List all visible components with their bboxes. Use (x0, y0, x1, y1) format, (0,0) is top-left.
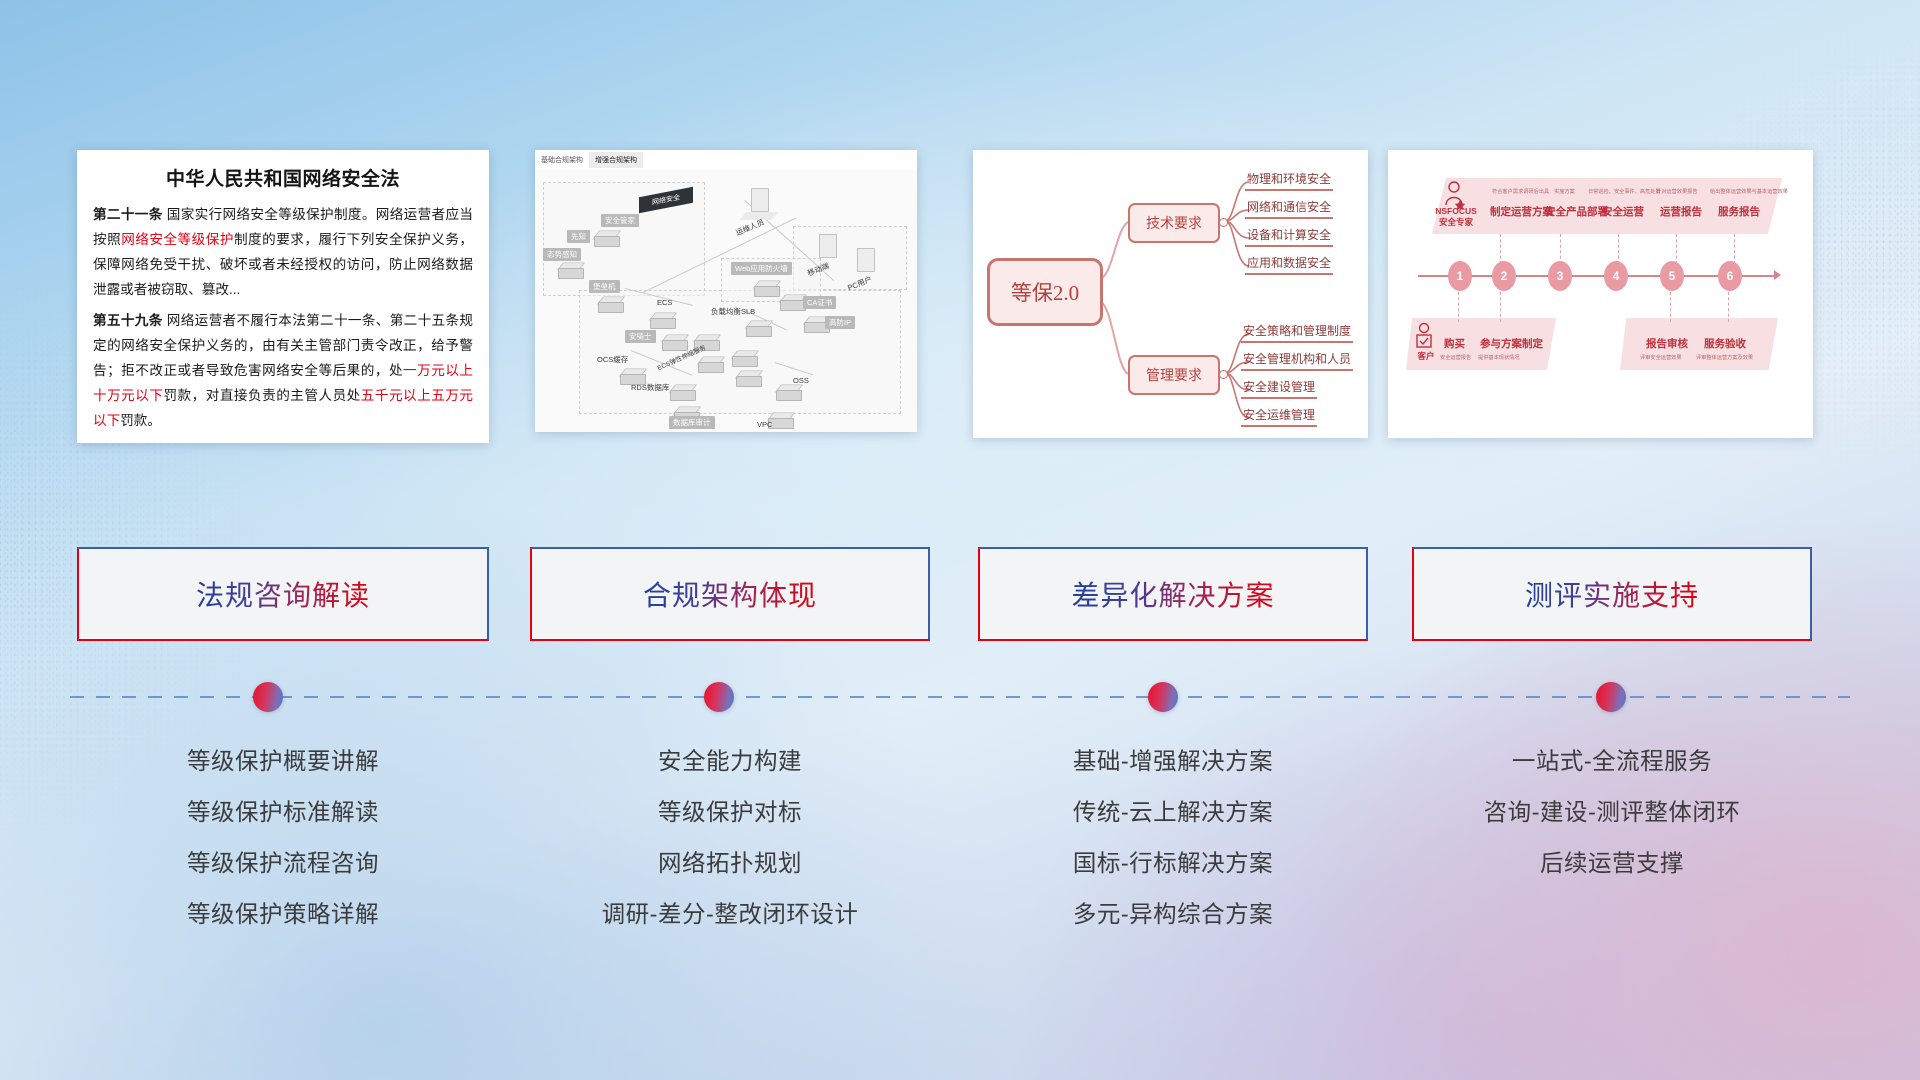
tab-basic-architecture[interactable]: 基础合规架构 (535, 152, 589, 168)
node-label-waf: Web应用防火墙 (731, 262, 792, 275)
feature-column-4: 一站式-全流程服务 咨询-建设-测评整体闭环 后续运营支撑 (1412, 736, 1812, 889)
node-label-ecs: ECS (657, 298, 672, 307)
node-icon-ecs-scale-2 (697, 354, 723, 373)
timeline-step-3: 3 (1548, 261, 1572, 291)
timeline-bullet-4 (1596, 682, 1626, 712)
list-item: 咨询-建设-测评整体闭环 (1412, 787, 1812, 838)
law-article-59: 第五十九条 网络运营者不履行本法第二十一条、第二十五条规定的网络安全保护义务的，… (93, 308, 473, 433)
node-label-xianzhi: 先知 (567, 230, 590, 243)
mindmap-branch-technical: 技术要求 (1128, 203, 1220, 243)
timeline-bottom-sub-4: 评审整体运营方案及效果 (1696, 354, 1753, 361)
mindmap-root: 等保2.0 (987, 258, 1103, 326)
feature-list-row: 等级保护概要讲解 等级保护标准解读 等级保护流程咨询 等级保护策略详解 安全能力… (0, 736, 1920, 956)
node-label-rds: RDS数据库 (631, 382, 669, 393)
node-icon-anqishi (661, 332, 687, 351)
architecture-diagram: 基础合规架构 增强合规架构 网络安全 安全管家 (535, 150, 917, 432)
mindmap-leaf-application: 应用和数据安全 (1245, 254, 1333, 275)
card-cybersecurity-law: 中华人民共和国网络安全法 第二十一条 国家实行网络安全等级保护制度。网络运营者应… (77, 150, 489, 443)
article-59-label: 第五十九条 (93, 313, 163, 328)
list-item: 等级保护策略详解 (77, 889, 489, 940)
heading-box-compliance-architecture[interactable]: 合规架构体现 (530, 547, 930, 641)
node-label-db-audit: 数据库审计 (669, 416, 715, 429)
list-item: 安全能力构建 (530, 736, 930, 787)
list-item: 多元-异构综合方案 (978, 889, 1368, 940)
article-59-text-c: 罚款。 (120, 413, 161, 428)
timeline-bottom-title-4: 服务验收 (1704, 336, 1746, 351)
timeline-role-provider: NSFOCUS 安全专家 (1432, 206, 1480, 228)
node-icon-bastion-host (597, 294, 623, 313)
mindmap-leaf-policy: 安全策略和管理制度 (1241, 322, 1353, 343)
timeline-bullet-2 (704, 682, 734, 712)
article-21-highlight: 网络安全等级保护 (121, 232, 234, 247)
mindmap-leaf-network: 网络和通信安全 (1245, 198, 1333, 219)
timeline-bottom-title-3: 报告审核 (1646, 336, 1688, 351)
node-label-bastion-host: 堡垒机 (589, 280, 620, 293)
article-59-text-b: 罚款，对直接负责的主管人员处 (163, 388, 360, 403)
card-mindmap-dengbao: 等保2.0 技术要求 物理和环境安全 网络和通信安全 设备和计算安全 应用和数据… (973, 150, 1368, 438)
timeline-connector (1458, 292, 1459, 322)
node-icon-ops-staff (751, 188, 769, 212)
timeline-bottom-sub-3: 评审安全运营效果 (1640, 354, 1682, 361)
timeline-connector (1500, 234, 1501, 264)
timeline-step-4: 4 (1604, 261, 1628, 291)
timeline-step-5: 5 (1660, 261, 1684, 291)
list-item: 等级保护概要讲解 (77, 736, 489, 787)
node-icon-ca (779, 292, 805, 311)
mindmap-collapse-icon[interactable] (1219, 218, 1228, 227)
timeline-bottom-sub-1: 安全运营报告 (1440, 354, 1471, 361)
node-label-security-steward: 安全管家 (601, 214, 639, 227)
list-item: 后续运营支撑 (1412, 838, 1812, 889)
node-icon-security-steward (593, 228, 619, 247)
node-icon-ecs-scale-3 (731, 348, 757, 367)
law-article-21: 第二十一条 国家实行网络安全等级保护制度。网络运营者应当按照网络安全等级保护制度… (93, 202, 473, 302)
timeline-top-title-4: 运营报告 (1660, 204, 1702, 219)
timeline-bullet-3 (1148, 682, 1178, 712)
timeline-bullet-1 (253, 682, 283, 712)
timeline-role-provider-line2: 安全专家 (1439, 217, 1473, 227)
timeline-connector (1728, 292, 1729, 322)
node-icon-slb (745, 318, 771, 337)
mindmap-leaf-ops: 安全运维管理 (1241, 406, 1317, 427)
law-title: 中华人民共和国网络安全法 (93, 164, 473, 191)
timeline-connector (1618, 234, 1619, 264)
node-icon-ecs (649, 310, 675, 329)
timeline-top-title-5: 服务报告 (1718, 204, 1760, 219)
mindmap-leaf-physical: 物理和环境安全 (1245, 170, 1333, 191)
timeline-connector (1670, 292, 1671, 322)
node-label-ca-cert: CA证书 (803, 296, 836, 309)
timeline-bottom-sub-2: 提供基本现状情况 (1478, 354, 1520, 361)
mindmap-branch-management: 管理要求 (1128, 355, 1220, 395)
timeline-top-title-2: 安全产品部署 (1545, 204, 1608, 219)
feature-column-1: 等级保护概要讲解 等级保护标准解读 等级保护流程咨询 等级保护策略详解 (77, 736, 489, 940)
timeline-top-sub-4: 针对运营效果报告 (1656, 188, 1698, 195)
list-item: 一站式-全流程服务 (1412, 736, 1812, 787)
article-21-label: 第二十一条 (93, 207, 163, 222)
service-timeline: NSFOCUS 安全专家 客户 符合客户需求调研后出具 制定运营方案 实施方案 … (1388, 150, 1813, 438)
heading-box-regulation-consulting[interactable]: 法规咨询解读 (77, 547, 489, 641)
timeline-top-sub-3: 日常巡检、安全事件、高危处置 (1588, 188, 1661, 195)
customer-avatar-icon (1414, 322, 1436, 350)
timeline-top-title-3: 安全运营 (1602, 204, 1644, 219)
node-label-oss: OSS (793, 376, 809, 385)
node-icon-situational-awareness (557, 260, 583, 279)
node-label-slb: 负载均衡SLB (711, 306, 755, 317)
architecture-canvas: 网络安全 安全管家 先知 态势感知 堡垒机 运维人员 移动端 PC用户 Web应… (535, 170, 917, 432)
feature-column-3: 基础-增强解决方案 传统-云上解决方案 国标-行标解决方案 多元-异构综合方案 (978, 736, 1368, 940)
node-label-vpc: VPC (757, 420, 772, 429)
timeline-bottom-title-2: 参与方案制定 (1480, 336, 1543, 351)
heading-label-regulation-consulting: 法规咨询解读 (196, 574, 370, 614)
timeline-top-sub-5: 给出整体运营效果与基本运营效果 (1710, 188, 1788, 195)
timeline-connector (1676, 234, 1677, 264)
mindmap-collapse-icon[interactable] (1219, 370, 1228, 379)
timeline-role-provider-line1: NSFOCUS (1435, 206, 1477, 216)
timeline-connector (1500, 292, 1501, 322)
law-document: 中华人民共和国网络安全法 第二十一条 国家实行网络安全等级保护制度。网络运营者应… (77, 150, 489, 443)
list-item: 基础-增强解决方案 (978, 736, 1368, 787)
timeline-arrow-icon (1774, 270, 1781, 280)
mindmap-leaf-device: 设备和计算安全 (1245, 226, 1333, 247)
timeline-dashed-line (70, 696, 1850, 698)
heading-label-assessment-support: 测评实施支持 (1525, 574, 1699, 614)
mindmap: 等保2.0 技术要求 物理和环境安全 网络和通信安全 设备和计算安全 应用和数据… (973, 150, 1368, 438)
list-item: 传统-云上解决方案 (978, 787, 1368, 838)
heading-row: 法规咨询解读 合规架构体现 差异化解决方案 测评实施支持 (0, 547, 1920, 643)
timeline-bottom-title-1: 购买 (1444, 336, 1465, 351)
list-item: 国标-行标解决方案 (978, 838, 1368, 889)
node-icon-waf (753, 278, 779, 297)
timeline-step-1: 1 (1448, 261, 1472, 291)
timeline-top-sub-1: 符合客户需求调研后出具 (1492, 188, 1549, 195)
heading-box-differentiated-solution[interactable]: 差异化解决方案 (978, 547, 1368, 641)
timeline-top-title-1: 制定运营方案 (1490, 204, 1553, 219)
heading-box-assessment-support[interactable]: 测评实施支持 (1412, 547, 1812, 641)
node-label-anti-ddos-ip: 高防IP (825, 316, 855, 329)
card-service-timeline: NSFOCUS 安全专家 客户 符合客户需求调研后出具 制定运营方案 实施方案 … (1388, 150, 1813, 438)
mindmap-leaf-org: 安全管理机构和人员 (1241, 350, 1353, 371)
node-icon-ecs-scale-4 (735, 368, 761, 387)
illustration-card-row: 中华人民共和国网络安全法 第二十一条 国家实行网络安全等级保护制度。网络运营者应… (0, 150, 1920, 445)
list-item: 调研-差分-整改闭环设计 (530, 889, 930, 940)
heading-label-differentiated-solution: 差异化解决方案 (1071, 574, 1274, 614)
list-item: 等级保护流程咨询 (77, 838, 489, 889)
tab-enhanced-architecture[interactable]: 增强合规架构 (589, 152, 643, 168)
node-icon-rds (669, 382, 695, 401)
heading-label-compliance-architecture: 合规架构体现 (643, 574, 817, 614)
feature-column-2: 安全能力构建 等级保护对标 网络拓扑规划 调研-差分-整改闭环设计 (530, 736, 930, 940)
mindmap-leaf-build: 安全建设管理 (1241, 378, 1317, 399)
node-icon-mobile (819, 234, 837, 258)
timeline-band-customer-right (1620, 318, 1778, 370)
timeline-connector (1560, 234, 1561, 264)
list-item: 等级保护对标 (530, 787, 930, 838)
node-label-anqishi: 安骑士 (625, 330, 656, 343)
timeline-connector (1734, 234, 1735, 264)
node-icon-pc (857, 248, 875, 272)
list-item: 网络拓扑规划 (530, 838, 930, 889)
architecture-tabs: 基础合规架构 增强合规架构 (535, 150, 917, 171)
timeline-step-2: 2 (1492, 261, 1516, 291)
timeline-step-6: 6 (1718, 261, 1742, 291)
timeline-role-customer: 客户 (1410, 350, 1442, 362)
timeline-top-sub-2: 实施方案 (1554, 188, 1575, 195)
node-label-ocs: OCS缓存 (597, 354, 628, 365)
card-cloud-architecture: 基础合规架构 增强合规架构 网络安全 安全管家 (535, 150, 917, 432)
list-item: 等级保护标准解读 (77, 787, 489, 838)
